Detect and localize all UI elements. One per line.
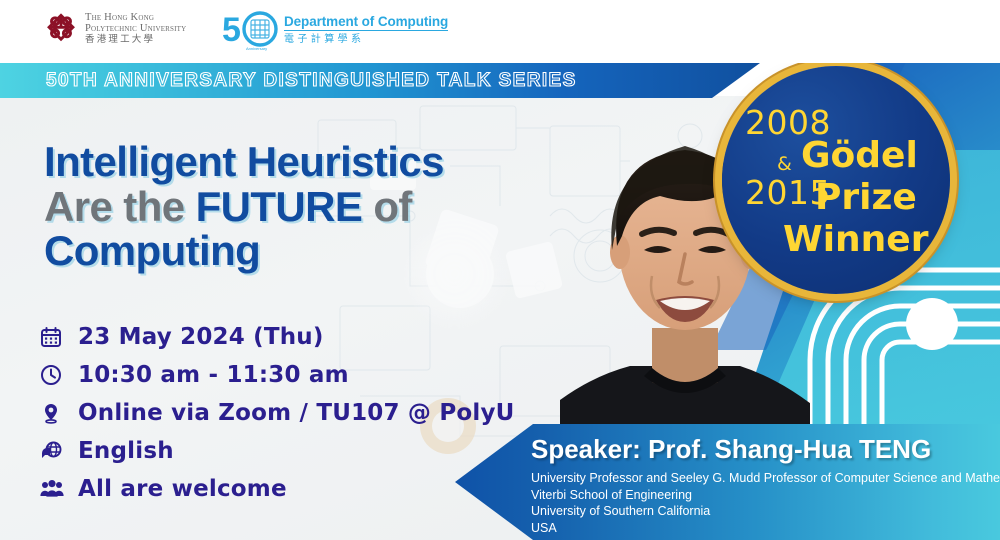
speaker-affiliation-line-1: University Professor and Seeley G. Mudd … (531, 470, 1000, 487)
detail-row-time: 10:30 am - 11:30 am (40, 356, 515, 394)
detail-text-date: 23 May 2024 (Thu) (78, 324, 324, 350)
detail-row-language: English (40, 432, 515, 470)
clock-icon (40, 364, 78, 386)
location-pin-icon (40, 402, 78, 424)
event-poster: The Hong Kong Polytechnic University 香港理… (0, 0, 1000, 540)
speaker-affiliation-line-2: Viterbi School of Engineering (531, 487, 1000, 504)
polyu-name-chinese: 香港理工大學 (85, 35, 186, 45)
detail-text-audience: All are welcome (78, 476, 287, 502)
godel-prize-badge: 2008 & 2015 Gödel Prize Winner (722, 66, 950, 294)
people-icon (40, 478, 78, 500)
title-line-3: Computing (44, 229, 474, 274)
svg-text:Anniversary: Anniversary (246, 46, 267, 51)
department-of-computing-logo: 5 Anniversary Department of Computing 電子… (222, 9, 448, 51)
series-banner: 50TH ANNIVERSARY DISTINGUISHED TALK SERI… (0, 63, 760, 98)
badge-word-godel: Gödel (801, 135, 918, 176)
department-name-chinese: 電子計算學系 (284, 34, 448, 45)
title-line-2: Are the FUTURE of (44, 185, 474, 230)
calendar-icon (40, 326, 78, 348)
detail-row-date: 23 May 2024 (Thu) (40, 318, 515, 356)
speaker-affiliation-line-3: University of Southern California (531, 503, 1000, 520)
polyu-logo: The Hong Kong Polytechnic University 香港理… (44, 12, 186, 46)
globe-speech-icon (40, 440, 78, 462)
speaker-name: Speaker: Prof. Shang-Hua TENG (531, 434, 931, 465)
title-line-2-a: Are the (44, 183, 196, 230)
50th-anniversary-mark: 5 Anniversary (222, 9, 278, 51)
title-line-2-c: of (362, 183, 412, 230)
title-line-1: Intelligent Heuristics (44, 140, 474, 185)
detail-text-venue: Online via Zoom / TU107 @ PolyU (78, 400, 515, 426)
badge-word-winner: Winner (783, 219, 928, 260)
speaker-affiliation-line-4: USA (531, 520, 1000, 537)
detail-row-audience: All are welcome (40, 470, 515, 508)
event-details: 23 May 2024 (Thu) 10:30 am - 11:30 am On… (40, 318, 515, 508)
logo-bar: The Hong Kong Polytechnic University 香港理… (0, 0, 1000, 63)
detail-text-language: English (78, 438, 174, 464)
speaker-affiliation: University Professor and Seeley G. Mudd … (531, 470, 1000, 537)
title-line-2-b: FUTURE (196, 183, 363, 230)
series-banner-text: 50TH ANNIVERSARY DISTINGUISHED TALK SERI… (46, 70, 577, 92)
speaker-banner: Speaker: Prof. Shang-Hua TENG University… (455, 424, 1000, 540)
department-name-english: Department of Computing (284, 14, 448, 31)
polyu-knot-icon (44, 12, 78, 46)
detail-row-venue: Online via Zoom / TU107 @ PolyU (40, 394, 515, 432)
svg-text:5: 5 (222, 11, 241, 49)
talk-title: Intelligent Heuristics Are the FUTURE of… (44, 140, 474, 274)
badge-word-prize: Prize (815, 177, 917, 218)
detail-text-time: 10:30 am - 11:30 am (78, 362, 349, 388)
badge-ampersand: & (777, 153, 792, 175)
polyu-name-line2: Polytechnic University (85, 24, 186, 35)
